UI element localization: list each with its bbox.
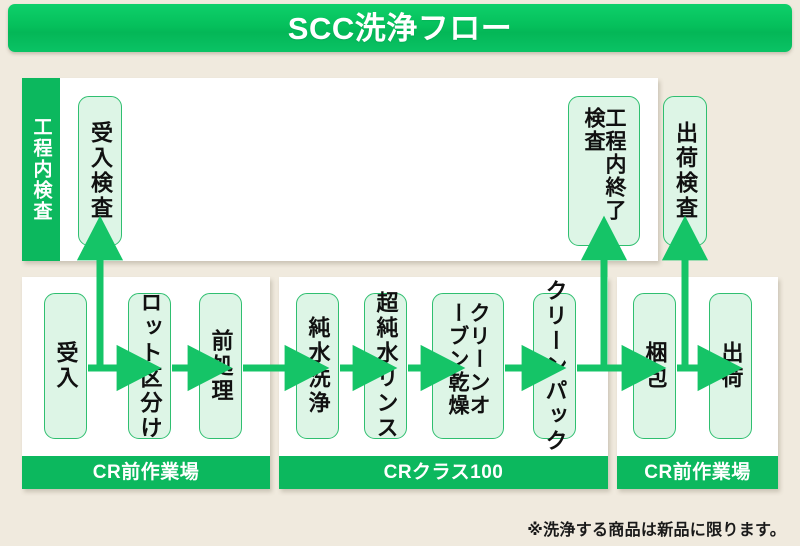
footnote: ※洗浄する商品は新品に限ります。 xyxy=(527,522,786,540)
flow-connectors xyxy=(0,0,800,546)
flow-diagram-canvas: SCC洗浄フロー 工程内検査 受入検査 工程内終了検査 出荷検査 CR前作業場 … xyxy=(0,0,800,546)
connector-svg xyxy=(0,0,800,546)
